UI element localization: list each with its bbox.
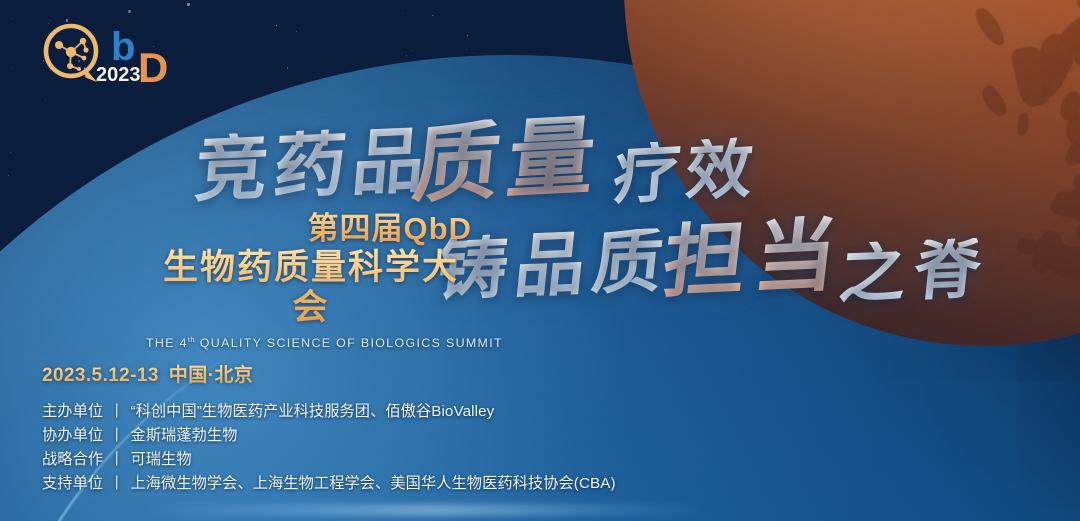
organizer-value: 可瑞生物 (130, 451, 191, 468)
organizer-row: 支持单位丨上海微生物学会、上海生物工程学会、美国华人生物医药科技协会(CBA) (42, 472, 616, 496)
conference-name-cn: 生物药质量科学大会 (146, 248, 476, 328)
organizer-separator: 丨 (109, 403, 124, 420)
conference-banner: b D 2023 竞药品 质量 疗效 铸品质 担当 之脊 第四届QbD 生物药质… (0, 0, 1080, 521)
organizer-row: 战略合作丨可瑞生物 (42, 448, 616, 472)
logo-letter-b: b (111, 25, 135, 69)
conference-name-en-ordinal: th (188, 335, 195, 344)
organizer-value: 金斯瑞蓬勃生物 (130, 427, 237, 444)
event-location: 中国·北京 (169, 365, 253, 386)
organizer-label: 支持单位 (42, 475, 103, 492)
conference-edition: 第四届QbD (146, 212, 476, 247)
organizer-row: 主办单位丨“科创中国”生物医药产业科技服务团、佰傲谷BioValley (42, 400, 616, 424)
event-date-location: 2023.5.12-13中国·北京 (42, 360, 616, 387)
qbd-logo-svg: b D 2023 (34, 20, 184, 86)
title-light-streak (146, 504, 706, 516)
organizer-row: 协办单位丨金斯瑞蓬勃生物 (42, 424, 616, 448)
event-date: 2023.5.12-13 (42, 365, 159, 386)
conference-name-en: THE 4th QUALITY SCIENCE OF BIOLOGICS SUM… (146, 335, 476, 350)
organizer-value: “科创中国”生物医药产业科技服务团、佰傲谷BioValley (130, 403, 494, 420)
organizer-label: 主办单位 (42, 403, 103, 420)
event-info-block: 2023.5.12-13中国·北京 主办单位丨“科创中国”生物医药产业科技服务团… (42, 360, 616, 496)
organizer-label: 协办单位 (42, 427, 103, 444)
conference-name-en-rest: QUALITY SCIENCE OF BIOLOGICS SUMMIT (195, 336, 503, 350)
organizer-value: 上海微生物学会、上海生物工程学会、美国华人生物医药科技协会(CBA) (130, 475, 615, 492)
conference-name-en-prefix: THE 4 (146, 336, 188, 350)
logo-letter-d: D (138, 44, 168, 86)
conference-title-block: 第四届QbD 生物药质量科学大会 THE 4th QUALITY SCIENCE… (146, 212, 476, 350)
logo-year: 2023 (96, 64, 141, 86)
organizer-separator: 丨 (109, 475, 124, 492)
organizer-separator: 丨 (109, 451, 124, 468)
q-speech-bubble-icon (46, 26, 97, 82)
organizer-list: 主办单位丨“科创中国”生物医药产业科技服务团、佰傲谷BioValley协办单位丨… (42, 400, 616, 496)
qbd-logo[interactable]: b D 2023 (34, 20, 184, 86)
mars-terminator (624, 0, 1080, 346)
mars-planet (624, 0, 1080, 346)
organizer-separator: 丨 (109, 427, 124, 444)
organizer-label: 战略合作 (42, 451, 103, 468)
